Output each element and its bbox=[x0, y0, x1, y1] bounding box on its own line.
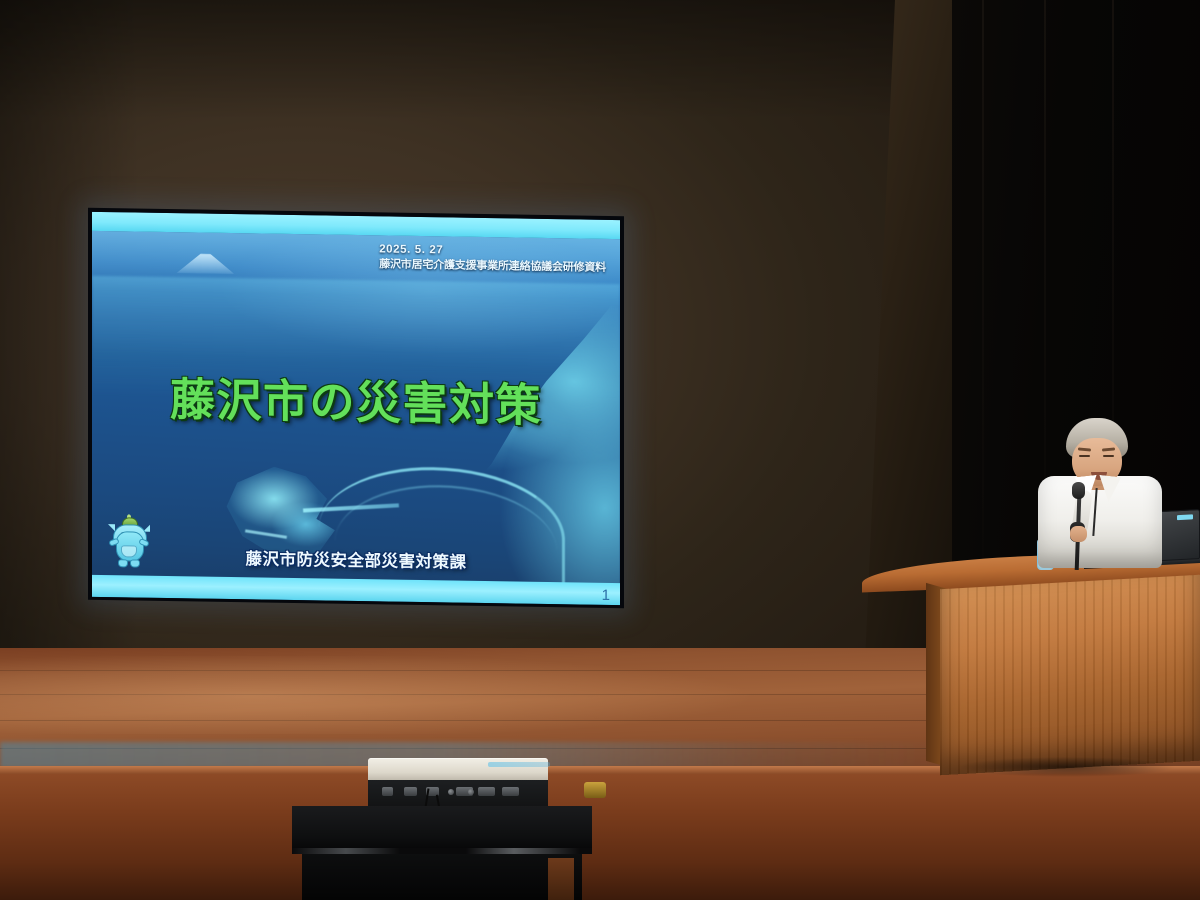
projection-screen: 1 2025. 5. 27 藤沢市居宅介護支援事業所連絡協議会研修資料 藤沢市の… bbox=[88, 212, 624, 604]
podium-shadow bbox=[922, 754, 1200, 780]
cart-top-shelf bbox=[292, 806, 592, 850]
cart-lower-body bbox=[302, 854, 582, 900]
photo-scene: 1 2025. 5. 27 藤沢市居宅介護支援事業所連絡協議会研修資料 藤沢市の… bbox=[0, 0, 1200, 900]
podium bbox=[862, 556, 1200, 818]
slide-title: 藤沢市の災害対策 bbox=[92, 362, 620, 435]
podium-front-panel bbox=[940, 575, 1200, 776]
projector-lens bbox=[584, 782, 606, 798]
projector-rear-panel bbox=[368, 780, 548, 808]
slide-page-number: 1 bbox=[602, 587, 610, 604]
wall-top-shadow bbox=[0, 0, 965, 120]
slide-content: 1 2025. 5. 27 藤沢市居宅介護支援事業所連絡協議会研修資料 藤沢市の… bbox=[92, 212, 620, 605]
presenter-hand bbox=[1070, 526, 1087, 542]
slide-header: 2025. 5. 27 藤沢市居宅介護支援事業所連絡協議会研修資料 bbox=[379, 242, 606, 274]
projector-body bbox=[368, 758, 548, 782]
cart-wood-block bbox=[548, 858, 574, 900]
fujisawa-mascot-icon bbox=[108, 517, 150, 568]
microphone-head bbox=[1072, 482, 1085, 499]
presenter bbox=[1022, 418, 1172, 566]
projector-cart bbox=[292, 758, 592, 900]
